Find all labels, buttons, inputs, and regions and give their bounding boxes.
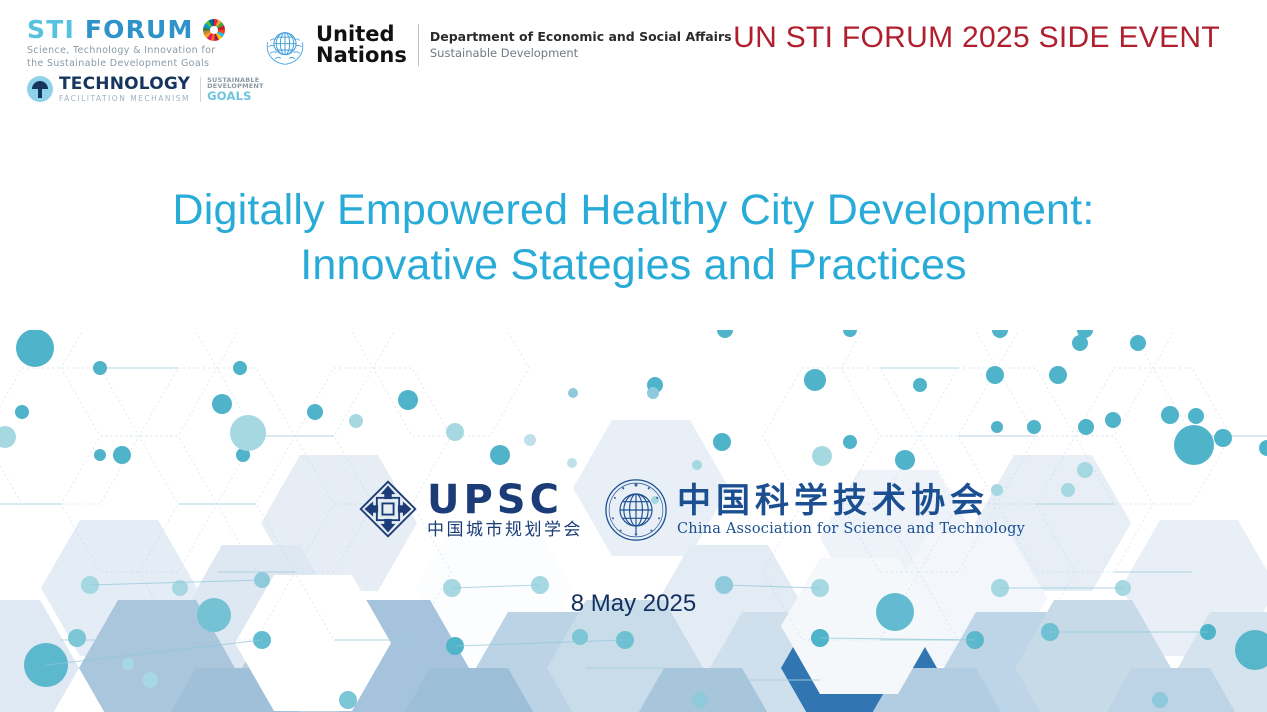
un-laurel-globe-emblem-icon [262,22,308,68]
technology-facilitation-mechanism-logo: TECHNOLOGY FACILITATION MECHANISM SUSTAI… [27,76,242,103]
tfm-text-block: TECHNOLOGY FACILITATION MECHANISM [59,76,190,103]
upsc-text-block: UPSC 中国城市规划学会 [427,480,583,539]
tfm-title: TECHNOLOGY [59,76,190,93]
sdg-goals-badge: SUSTAINABLE DEVELOPMENT GOALS [200,77,264,103]
un-name: United Nations [316,24,407,66]
page-title: Digitally Empowered Healthy City Develop… [0,183,1267,293]
sti-forum-wordmark-sti: STI [27,15,75,44]
cast-text-block: 中国科学技术协会 China Association for Science a… [677,484,1025,537]
tfm-emblem-icon [27,76,53,102]
page-title-line2: Innovative Stategies and Practices [0,238,1267,293]
un-name-line1: United [316,24,407,45]
upsc-chinese-name: 中国城市规划学会 [427,522,583,539]
un-desa-logo: United Nations Department of Economic an… [262,22,732,68]
cast-chinese-name: 中国科学技术协会 [677,484,1025,518]
sti-forum-wordmark: STI FORUM [27,17,194,42]
sti-forum-logo: STI FORUM Science, Technology & Innovati… [27,17,242,103]
cast-circular-globe-seal-icon [604,478,668,542]
slide-canvas: STI FORUM Science, Technology & Innovati… [0,0,1267,712]
sti-forum-tagline-line1: Science, Technology & Innovation for [27,45,242,58]
slide-header: STI FORUM Science, Technology & Innovati… [0,0,1267,120]
event-label: UN STI FORUM 2025 SIDE EVENT [733,21,1220,55]
tfm-subtitle: FACILITATION MECHANISM [59,95,190,103]
upsc-logo: UPSC 中国城市规划学会 [357,478,583,540]
page-title-line1: Digitally Empowered Healthy City Develop… [173,186,1095,234]
sti-forum-wordmark-row: STI FORUM [27,17,242,42]
un-department-block: Department of Economic and Social Affair… [430,31,732,60]
un-department-name: Department of Economic and Social Affair… [430,31,732,44]
sti-forum-tagline: Science, Technology & Innovation for the… [27,45,242,70]
un-division-name: Sustainable Development [430,48,732,60]
sdg-color-wheel-icon [203,19,225,41]
upsc-acronym: UPSC [427,480,583,520]
upsc-diamond-compass-icon [357,478,419,540]
event-date: 8 May 2025 [0,590,1267,618]
sti-forum-tagline-line2: the Sustainable Development Goals [27,58,242,71]
cast-english-name: China Association for Science and Techno… [677,522,1025,537]
cast-logo: 中国科学技术协会 China Association for Science a… [604,478,1025,542]
sti-forum-wordmark-forum: FORUM [85,15,194,44]
sdg-badge-line3: GOALS [207,91,264,103]
un-name-line2: Nations [316,45,407,66]
partner-logos: UPSC 中国城市规划学会 [0,470,1267,565]
un-divider [418,24,419,66]
